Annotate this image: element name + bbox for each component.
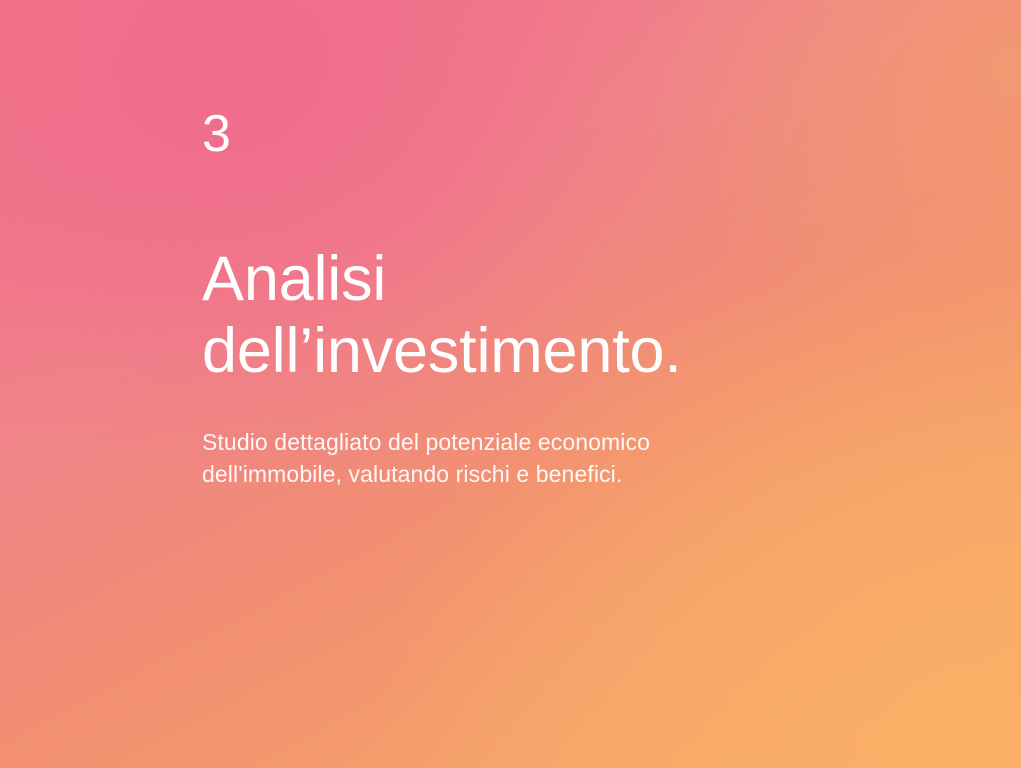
page-title: Analisi dell’investimento. bbox=[202, 160, 902, 388]
slide-content: 3 Analisi dell’investimento. Studio dett… bbox=[202, 108, 902, 490]
section-number: 3 bbox=[202, 108, 902, 160]
slide-canvas: 3 Analisi dell’investimento. Studio dett… bbox=[0, 0, 1021, 768]
slide-subtitle: Studio dettagliato del potenziale econom… bbox=[202, 388, 902, 490]
